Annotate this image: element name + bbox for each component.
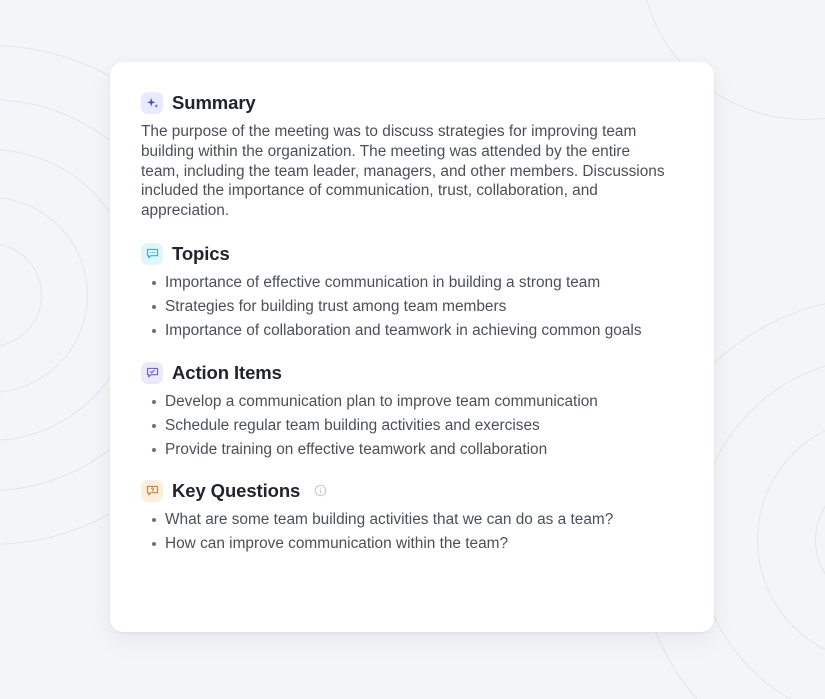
list-item: Provide training on effective teamwork a… [141, 440, 671, 460]
section-title: Key Questions [172, 480, 300, 502]
section-header-summary: Summary [141, 92, 682, 114]
key-questions-list: What are some team building activities t… [141, 510, 682, 554]
decorative-ring [757, 417, 825, 663]
sparkle-icon [141, 92, 163, 114]
section-summary: Summary The purpose of the meeting was t… [141, 92, 682, 221]
list-item: Strategies for building trust among team… [141, 297, 671, 317]
section-header-action-items: Action Items [141, 362, 682, 384]
list-item: Schedule regular team building activitie… [141, 416, 671, 436]
list-item: How can improve communication within the… [141, 534, 671, 554]
section-header-key-questions: Key Questions [141, 480, 682, 502]
section-topics: Topics Importance of effective communica… [141, 243, 682, 341]
decorative-ring [0, 243, 42, 347]
meeting-summary-card: Summary The purpose of the meeting was t… [110, 62, 714, 632]
section-header-topics: Topics [141, 243, 682, 265]
list-item: Importance of effective communication in… [141, 273, 671, 293]
info-circle-icon[interactable] [314, 484, 327, 497]
chat-dots-icon [141, 243, 163, 265]
topics-list: Importance of effective communication in… [141, 273, 682, 341]
section-title: Summary [172, 92, 256, 114]
section-action-items: Action Items Develop a communication pla… [141, 362, 682, 460]
list-item: Develop a communication plan to improve … [141, 392, 671, 412]
section-title: Action Items [172, 362, 282, 384]
section-key-questions: Key Questions What are some team buildin… [141, 480, 682, 554]
list-item: What are some team building activities t… [141, 510, 671, 530]
action-items-list: Develop a communication plan to improve … [141, 392, 682, 460]
decorative-ring [697, 357, 825, 699]
summary-paragraph: The purpose of the meeting was to discus… [141, 122, 666, 221]
section-title: Topics [172, 243, 230, 265]
decorative-ring [0, 197, 88, 393]
list-item: Importance of collaboration and teamwork… [141, 321, 671, 341]
chat-question-icon [141, 480, 163, 502]
decorative-ring [815, 475, 825, 605]
chat-check-icon [141, 362, 163, 384]
